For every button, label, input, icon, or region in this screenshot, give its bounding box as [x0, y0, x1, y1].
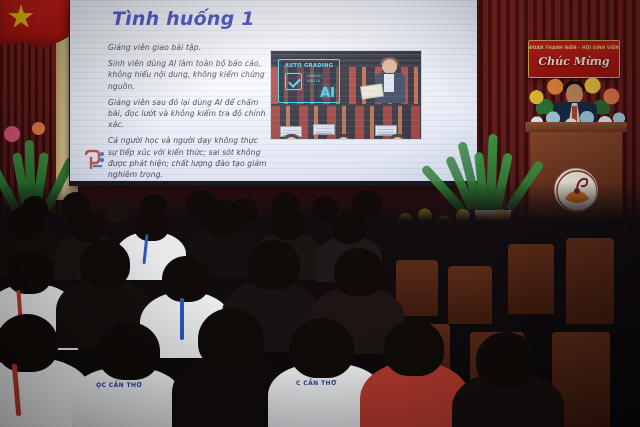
slide-illustration: AUTO GRADING 1000001 100110 AI — [270, 50, 422, 140]
audience-head — [98, 322, 160, 380]
audience-head — [134, 208, 169, 241]
audience-head — [312, 196, 338, 220]
speaker-head — [566, 84, 583, 104]
chair-back — [566, 238, 614, 324]
audience-head — [384, 320, 444, 376]
lecture-hall-scene: Tình huống 1 Giảng viên giao bài tập. Si… — [0, 0, 640, 427]
audience-head — [248, 240, 300, 290]
shirt-text: ỌC CẦN THƠ — [96, 382, 142, 389]
slide-paragraph: Giảng viên sau đó lại dùng AI để chấm bà… — [108, 97, 268, 131]
teacher-shirt — [384, 74, 394, 92]
binary-digits: 1000001 100110 — [306, 74, 323, 84]
flag-star-icon — [8, 4, 34, 30]
banner-message-text: Chúc Mừng — [529, 55, 619, 68]
shirt-text: C CẦN THƠ — [296, 380, 337, 387]
audience-head — [334, 248, 384, 296]
audience-head — [162, 256, 210, 302]
audience-area: ỌC CẦN THƠ C CẦN THƠ — [0, 182, 640, 427]
chair-back — [508, 244, 554, 314]
chair-back — [448, 266, 492, 324]
illustration-teacher — [371, 59, 411, 107]
audience-head — [8, 206, 44, 240]
slide-title: Tình huống 1 — [112, 8, 255, 30]
audience-head — [6, 250, 52, 294]
audience-head — [104, 200, 128, 222]
slide-paragraph: Cả người học và người dạy không thực sự … — [108, 135, 268, 180]
presentation-slide: Tình huống 1 Giảng viên giao bài tập. Si… — [70, 0, 477, 181]
slide-body-text: Giảng viên giao bài tập. Sinh viên dùng … — [108, 42, 268, 181]
lanyard — [180, 298, 184, 340]
slide-paragraph: Sinh viên dùng AI làm toàn bộ báo cáo, k… — [108, 58, 268, 92]
slide-corner-logo-icon — [82, 149, 108, 171]
audience-head — [476, 332, 536, 388]
audience-head — [0, 314, 58, 372]
audience-head — [198, 308, 264, 370]
audience-head — [80, 240, 130, 288]
ai-label: AI — [279, 86, 335, 101]
auto-grading-badge: AUTO GRADING 1000001 100110 AI — [278, 59, 340, 103]
audience-head — [270, 206, 306, 240]
vietnam-flag-icon — [0, 0, 72, 48]
audience-head — [290, 318, 354, 378]
audience-head — [70, 210, 104, 242]
auto-grading-label: AUTO GRADING — [279, 63, 339, 69]
audience-head — [204, 200, 242, 236]
projection-screen: Tình huống 1 Giảng viên giao bài tập. Si… — [69, 0, 478, 186]
slide-paragraph: Giảng viên giao bài tập. — [108, 42, 268, 53]
audience-head — [332, 212, 366, 244]
teacher-head — [382, 59, 397, 74]
banner-organization-text: ĐOÀN THANH NIÊN - HỘI SINH VIÊN — [529, 45, 619, 50]
